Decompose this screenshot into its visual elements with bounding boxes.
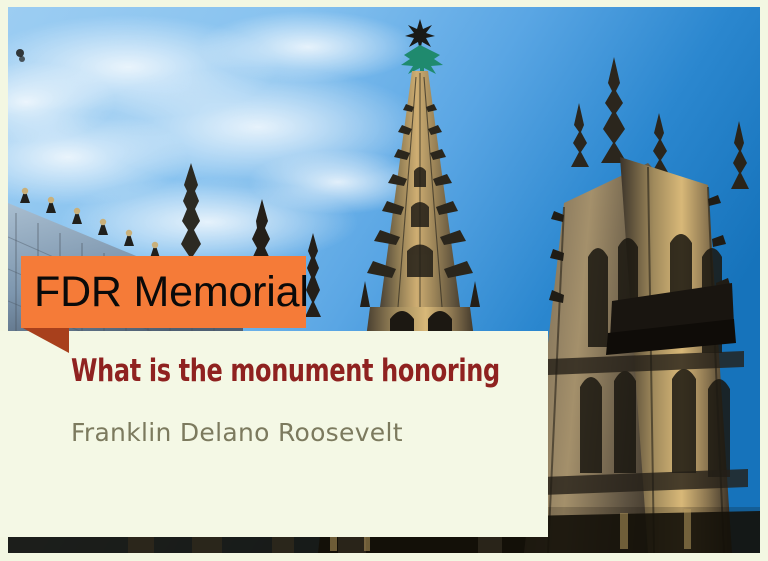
page-title: FDR Memorial [21, 271, 309, 314]
slide-headline: What is the monument honoring [71, 354, 500, 388]
slide-subline: Franklin Delano Roosevelt [71, 418, 403, 448]
presentation-slide: FDR Memorial What is the monument honori… [0, 0, 768, 561]
title-banner: FDR Memorial [21, 256, 306, 328]
